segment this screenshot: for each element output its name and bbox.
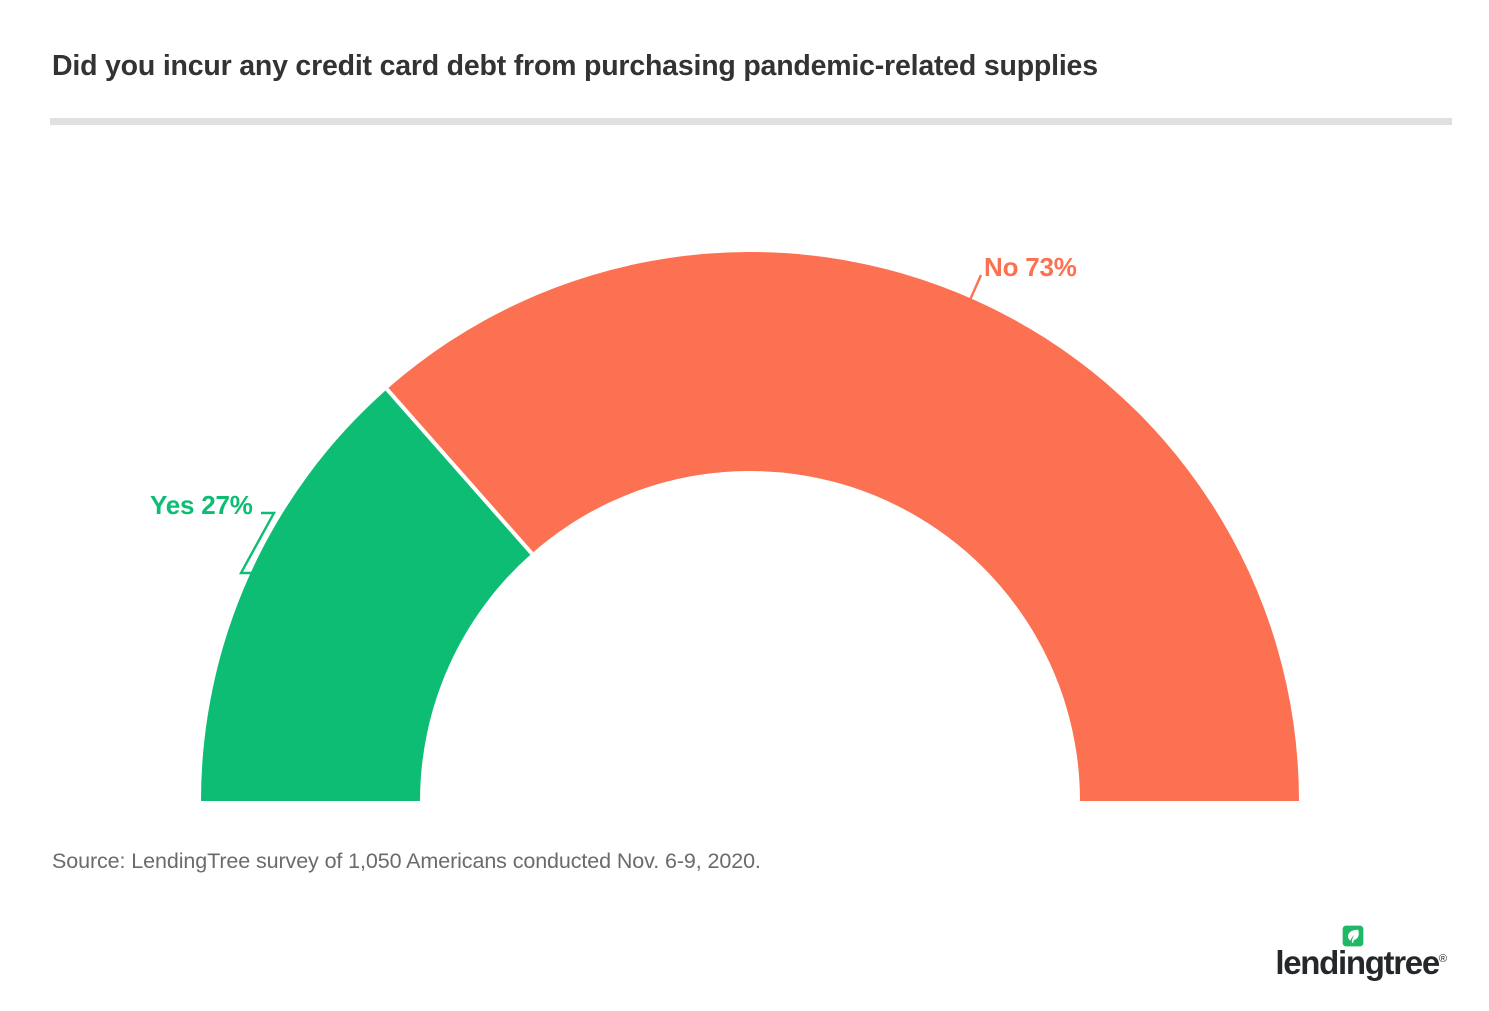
source-note: Source: LendingTree survey of 1,050 Amer… xyxy=(52,849,761,874)
slice-label-no: No 73% xyxy=(984,252,1077,283)
leaf-icon xyxy=(1342,925,1364,947)
logo-text: lendingtree xyxy=(1275,944,1439,981)
lendingtree-logo: lendingtree® xyxy=(1275,933,1447,979)
slice-label-yes: Yes 27% xyxy=(150,490,253,521)
chart-page: Did you incur any credit card debt from … xyxy=(0,0,1489,1011)
slice-no[interactable] xyxy=(387,252,1299,801)
logo-wordmark: lendingtree® xyxy=(1275,946,1447,979)
logo-trademark: ® xyxy=(1439,953,1447,965)
